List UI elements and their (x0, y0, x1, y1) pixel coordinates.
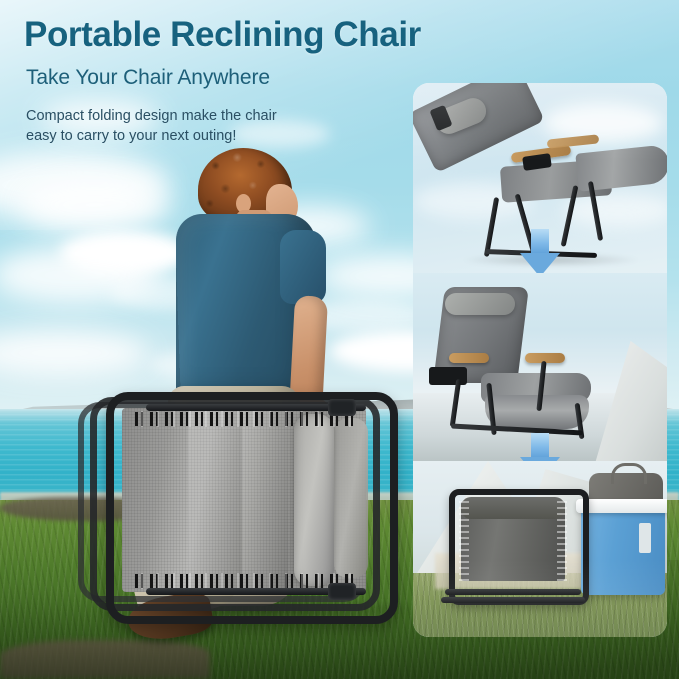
arrow-down-icon (520, 229, 560, 277)
chair-leg (450, 379, 462, 427)
chair-armrest-right (547, 134, 600, 148)
page-title: Portable Reclining Chair (24, 14, 424, 56)
chair-latch-top (328, 399, 356, 416)
folded-chair-illustration (449, 489, 577, 601)
chair-crossbar (441, 597, 585, 603)
chair-headrest (445, 293, 515, 315)
dirt-patch-foreground (0, 640, 210, 679)
arrow-shaft (531, 229, 549, 255)
duffel-bag-handle (611, 463, 647, 484)
cooler-lid (576, 499, 667, 513)
cooler-latch (639, 523, 651, 553)
folding-sequence-panel (413, 83, 667, 637)
body-copy-line-1: Compact folding design make the chair (26, 108, 277, 124)
step-3-folded-chair (413, 461, 667, 637)
headline-block: Portable Reclining Chair Take Your Chair… (24, 14, 424, 146)
folded-chair-carried (106, 392, 382, 608)
cooler (581, 509, 665, 595)
body-copy-line-2: easy to carry to your next outing! (26, 128, 236, 144)
shirt-sleeve (280, 230, 326, 304)
body-copy: Compact folding design make the chair ea… (26, 106, 356, 146)
upright-chair-illustration (427, 287, 613, 457)
chair-leg (484, 197, 499, 257)
product-marketing-image: Portable Reclining Chair Take Your Chair… (0, 0, 679, 679)
chair-armrest-left (449, 353, 489, 363)
page-subtitle: Take Your Chair Anywhere (26, 64, 424, 92)
panel-scene (413, 83, 667, 637)
arrow-shaft (531, 433, 549, 459)
chair-crossbar (445, 589, 581, 595)
chair-side-tray (429, 367, 467, 385)
chair-frame (449, 489, 589, 605)
chair-latch-bottom (328, 583, 356, 600)
